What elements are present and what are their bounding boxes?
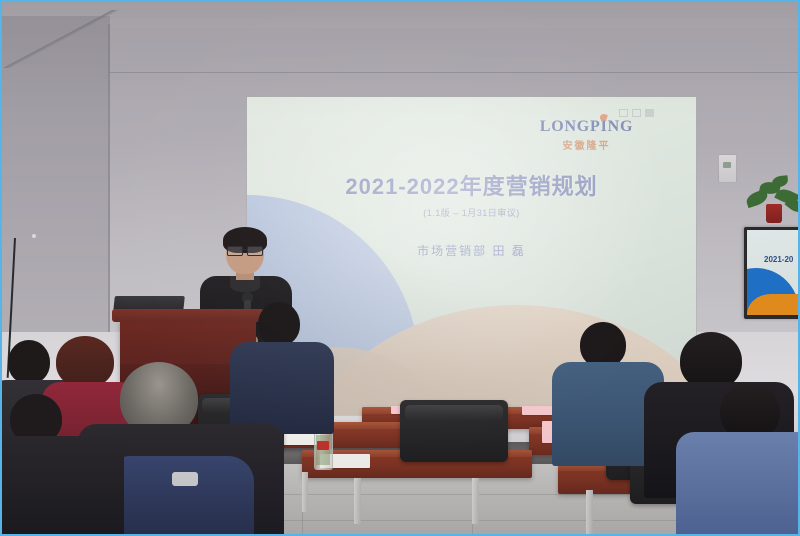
logo-brand-latin: LONGPING bbox=[540, 119, 634, 136]
minimize-icon[interactable] bbox=[619, 109, 628, 117]
attendee-blue-shirt bbox=[558, 322, 654, 460]
desk-leg bbox=[472, 478, 479, 524]
attendee-head bbox=[8, 340, 50, 384]
chair-back bbox=[400, 400, 508, 462]
attendee-left-front bbox=[2, 394, 122, 534]
attendee-torso bbox=[676, 432, 798, 534]
desk-leg bbox=[586, 490, 593, 534]
slide-author: 市场营销部 田 磊 bbox=[247, 242, 696, 259]
slide-logo: LONGPING 安徽隆平 bbox=[247, 119, 696, 154]
glasses-icon bbox=[227, 246, 263, 254]
slide-title: 2021-2022年度营销规划 bbox=[247, 169, 696, 201]
attendee-torso bbox=[2, 436, 124, 534]
attendee-blue-puffer bbox=[692, 384, 798, 534]
attendee-vest bbox=[104, 456, 254, 534]
attendee-head bbox=[258, 302, 300, 346]
ceiling-corner-diagonal bbox=[2, 10, 120, 68]
plant-leaf bbox=[771, 175, 788, 188]
logo-brand-chinese: 安徽隆平 bbox=[540, 137, 634, 152]
potted-plant bbox=[742, 170, 798, 230]
window-controls[interactable] bbox=[619, 109, 654, 117]
monitor-title-text: 2021-20 bbox=[764, 255, 793, 264]
room-scene: LONGPING 安徽隆平 2021-2022年度营销规划 (1.1版 – 1月… bbox=[2, 2, 798, 534]
ceiling bbox=[2, 2, 798, 28]
wall-switch bbox=[32, 234, 36, 238]
conference-room-photo: LONGPING 安徽隆平 2021-2022年度营销规划 (1.1版 – 1月… bbox=[0, 0, 800, 536]
maximize-icon[interactable] bbox=[632, 109, 641, 117]
vest-logo-patch bbox=[172, 472, 198, 486]
ceiling-seam bbox=[2, 72, 798, 73]
close-icon[interactable] bbox=[645, 109, 654, 117]
plant-pot bbox=[766, 204, 782, 223]
wall-corner-edge bbox=[108, 24, 110, 374]
side-monitor-screen: 2021-20 bbox=[747, 230, 798, 315]
tumbler-label bbox=[317, 441, 329, 450]
desk-leg bbox=[302, 472, 308, 512]
wall-control-panel[interactable] bbox=[718, 154, 737, 183]
desk-leg bbox=[354, 478, 361, 524]
left-wall-return bbox=[2, 16, 110, 376]
slide-subtitle: (1.1版 – 1月31日审议) bbox=[247, 206, 696, 219]
tumbler-contents bbox=[316, 435, 330, 465]
side-monitor: 2021-20 bbox=[744, 227, 798, 319]
